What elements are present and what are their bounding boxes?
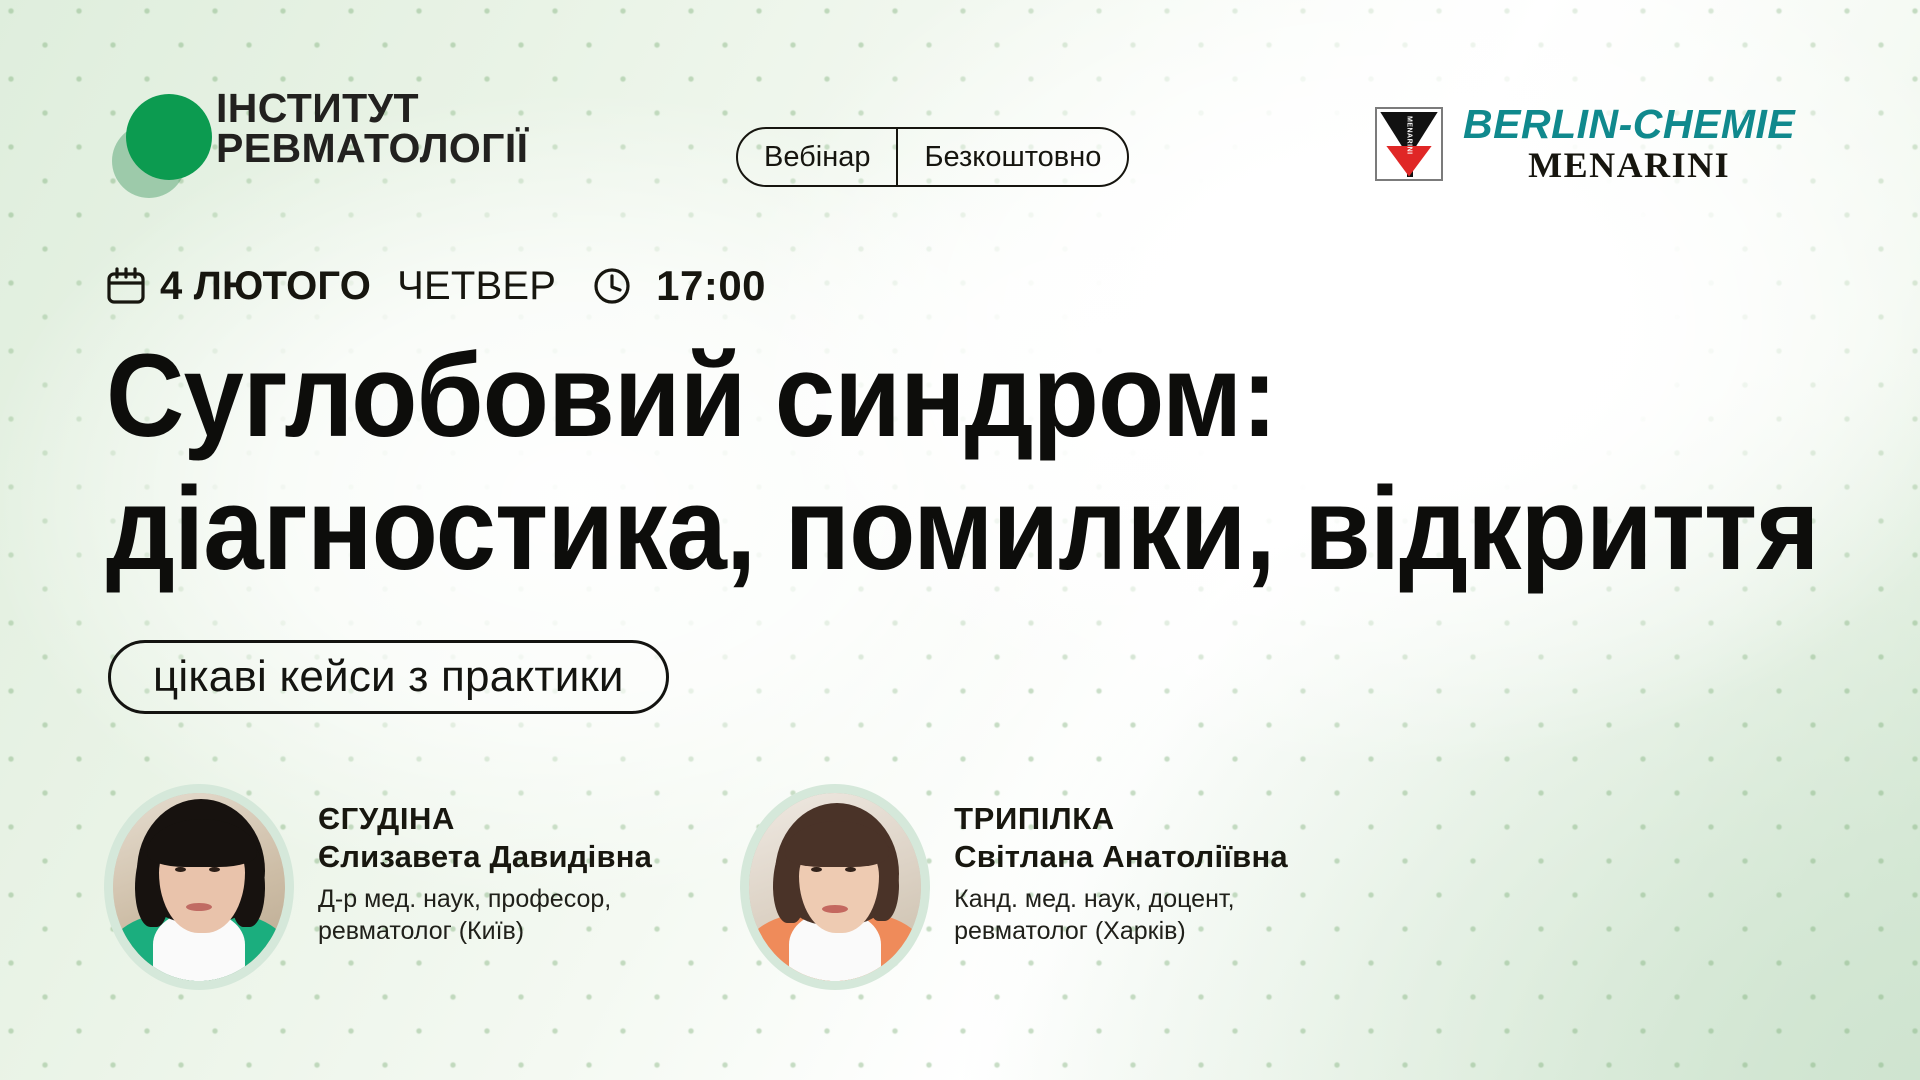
- speaker-given-name: Світлана Анатоліївна: [954, 838, 1288, 876]
- event-time: 17:00: [656, 262, 766, 310]
- institute-name-line-1: ІНСТИТУТ: [216, 88, 528, 128]
- speaker-avatar: [740, 784, 930, 990]
- badge-segment-free: Безкоштовно: [896, 129, 1127, 185]
- speaker-surname: ЄГУДІНА: [318, 800, 652, 838]
- speaker-card: ТРИПІЛКА Світлана Анатоліївна Канд. мед.…: [740, 784, 1288, 990]
- event-subtitle-pill: цікаві кейси з практики: [108, 640, 669, 714]
- calendar-icon: [106, 266, 146, 306]
- institute-name-line-2: РЕВМАТОЛОГІЇ: [216, 128, 528, 168]
- speaker-avatar: [104, 784, 294, 990]
- clock-icon: [592, 266, 632, 306]
- event-subtitle-text: цікаві кейси з практики: [153, 652, 624, 702]
- speakers-list: ЄГУДІНА Єлизавета Давидівна Д-р мед. нау…: [104, 784, 1288, 990]
- sponsor-logo-berlin-chemie-menarini: MENARINI BERLIN-CHEMIE MENARINI: [1375, 104, 1795, 183]
- portrait-mouth: [186, 903, 212, 911]
- speaker-role: Д-р мед. наук, професор, ревматолог (Киї…: [318, 883, 652, 947]
- sponsor-wordmark: BERLIN-CHEMIE MENARINI: [1463, 104, 1795, 183]
- webinar-banner: ІНСТИТУТ РЕВМАТОЛОГІЇ Вебінар Безкоштовн…: [0, 0, 1920, 1080]
- sponsor-brand-top: BERLIN-CHEMIE: [1463, 104, 1795, 145]
- portrait-eye-right: [209, 867, 220, 872]
- speaker-given-name: Єлизавета Давидівна: [318, 838, 652, 876]
- speaker-surname: ТРИПІЛКА: [954, 800, 1288, 838]
- event-title: Суглобовий синдром: діагностика, помилки…: [106, 330, 1707, 597]
- logo-circle-front-icon: [126, 94, 212, 180]
- event-weekday: ЧЕТВЕР: [397, 264, 556, 309]
- speaker-role: Канд. мед. наук, доцент, ревматолог (Хар…: [954, 883, 1288, 947]
- webinar-type-badge: Вебінар Безкоштовно: [736, 127, 1129, 187]
- event-title-line-1: Суглобовий синдром:: [106, 330, 1707, 463]
- badge-segment-webinar: Вебінар: [738, 129, 896, 185]
- speaker-card: ЄГУДІНА Єлизавета Давидівна Д-р мед. нау…: [104, 784, 652, 990]
- sponsor-brand-bottom: MENARINI: [1528, 147, 1730, 183]
- menarini-emblem-icon: MENARINI: [1375, 107, 1443, 181]
- portrait-mouth: [822, 905, 848, 913]
- menarini-vertical-wordmark: MENARINI: [1402, 117, 1416, 155]
- event-date: 4 ЛЮТОГО: [160, 264, 371, 309]
- speaker-avatar-image: [749, 793, 921, 981]
- institute-logo: ІНСТИТУТ РЕВМАТОЛОГІЇ: [110, 82, 528, 190]
- speaker-info: ЄГУДІНА Єлизавета Давидівна Д-р мед. нау…: [318, 784, 652, 947]
- portrait-eye-left: [175, 867, 186, 872]
- speaker-info: ТРИПІЛКА Світлана Анатоліївна Канд. мед.…: [954, 784, 1288, 947]
- institute-logo-mark: [110, 82, 210, 190]
- institute-logo-text: ІНСТИТУТ РЕВМАТОЛОГІЇ: [216, 82, 528, 168]
- event-datetime-row: 4 ЛЮТОГО ЧЕТВЕР 17:00: [106, 262, 766, 310]
- speaker-avatar-image: [113, 793, 285, 981]
- event-title-line-2: діагностика, помилки, відкриття: [106, 463, 1707, 596]
